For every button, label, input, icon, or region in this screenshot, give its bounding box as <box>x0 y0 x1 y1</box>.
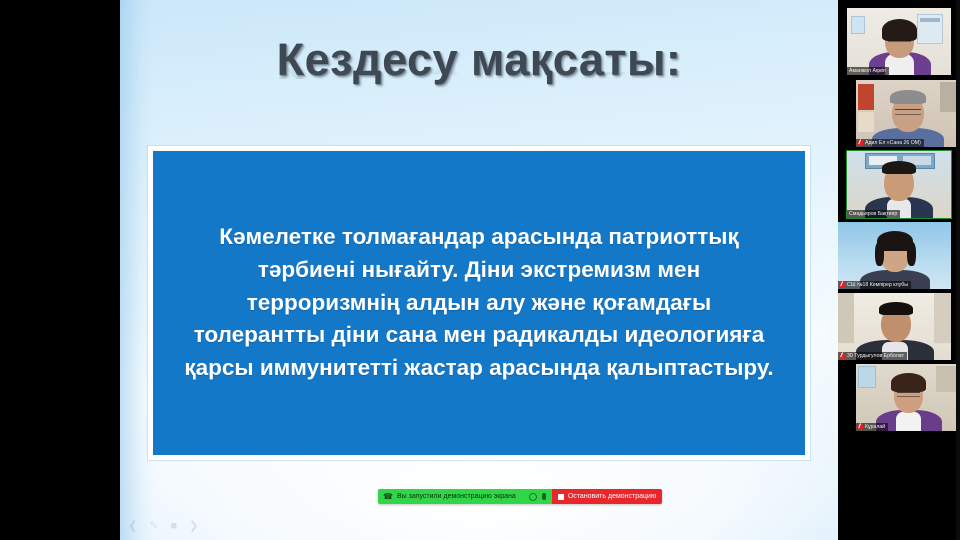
participant-tile[interactable]: Кұралай <box>856 364 960 431</box>
video-feed <box>838 222 951 289</box>
stop-share-button[interactable]: Остановить демонстрацию <box>552 489 662 504</box>
chevron-left-icon[interactable]: ❮ <box>128 519 137 532</box>
video-feed <box>847 8 951 75</box>
screen: Кездесу мақсаты: Кездесу мақсаты: Кәмеле… <box>0 0 960 540</box>
participant-name-label: Кұралай <box>856 423 888 432</box>
participant-tile[interactable]: Адил Ел «Сана 26 ОМ) <box>856 80 960 147</box>
slide-title-group: Кездесу мақсаты: Кездесу мақсаты: <box>120 36 838 132</box>
video-feed <box>838 293 951 360</box>
share-status: ☎ Вы запустили демонстрацию экрана <box>378 489 523 504</box>
video-feed <box>856 80 960 147</box>
participant-name-label: СШ №18 Кемпiрер клубы <box>838 281 911 290</box>
participant-name-label: Адил Ел «Сана 26 ОМ) <box>856 139 924 148</box>
participant-tile-active-speaker[interactable]: Смадьяров Бақтияр <box>847 151 951 218</box>
grid-menu-icon[interactable]: ■ <box>170 520 177 532</box>
video-feed <box>856 364 960 431</box>
muted-microphone-icon <box>840 353 845 359</box>
muted-microphone-icon <box>840 282 845 288</box>
stop-square-icon <box>558 494 564 500</box>
share-status-label: Вы запустили демонстрацию экрана <box>397 493 516 500</box>
pause-circle-icon[interactable] <box>529 493 537 501</box>
presentation-controls[interactable]: ❮ ✎ ■ ❯ <box>128 519 198 532</box>
participant-tile[interactable]: 30 Турдыгулов Ерболат <box>838 293 951 360</box>
participant-name-label: Аманжол Ақжiп <box>847 67 889 76</box>
participant-name: Кұралай <box>865 424 885 431</box>
muted-microphone-icon <box>858 140 863 146</box>
participant-name: Аманжол Ақжiп <box>849 68 886 75</box>
screen-share-bar[interactable]: ☎ Вы запустили демонстрацию экрана Остан… <box>378 489 662 504</box>
slide-body-text: Кәмелетке толмағандар арасында патриотты… <box>179 221 779 384</box>
phone-icon: ☎ <box>383 493 393 501</box>
shared-screen-slide: Кездесу мақсаты: Кездесу мақсаты: Кәмеле… <box>120 0 838 540</box>
muted-microphone-icon <box>858 424 863 430</box>
slide-title-reflection: Кездесу мақсаты: <box>120 55 838 84</box>
participant-name: СШ №18 Кемпiрер клубы <box>847 282 908 289</box>
participant-name-label: 30 Турдыгулов Ерболат <box>838 352 907 361</box>
filmstrip-scrollbar[interactable] <box>956 0 960 540</box>
participant-name: 30 Турдыгулов Ерболат <box>847 353 904 360</box>
share-bar-icon-group[interactable] <box>523 489 552 504</box>
participant-tile[interactable]: Аманжол Ақжiп <box>847 8 951 75</box>
participant-tile[interactable]: СШ №18 Кемпiрер клубы <box>838 222 951 289</box>
pen-icon[interactable]: ✎ <box>149 519 158 532</box>
participant-name: Адил Ел «Сана 26 ОМ) <box>865 140 921 147</box>
participant-filmstrip[interactable]: Аманжол Ақжiп Адил Ел «Сана 26 ОМ) <box>838 0 960 540</box>
slide-content-box: Кәмелетке толмағандар арасында патриотты… <box>148 146 810 460</box>
chevron-right-icon[interactable]: ❯ <box>189 519 198 532</box>
video-feed <box>847 151 951 218</box>
stop-share-label: Остановить демонстрацию <box>568 493 656 500</box>
microphone-icon[interactable] <box>542 493 546 500</box>
participant-name: Смадьяров Бақтияр <box>849 211 897 218</box>
participant-name-label: Смадьяров Бақтияр <box>847 210 900 219</box>
